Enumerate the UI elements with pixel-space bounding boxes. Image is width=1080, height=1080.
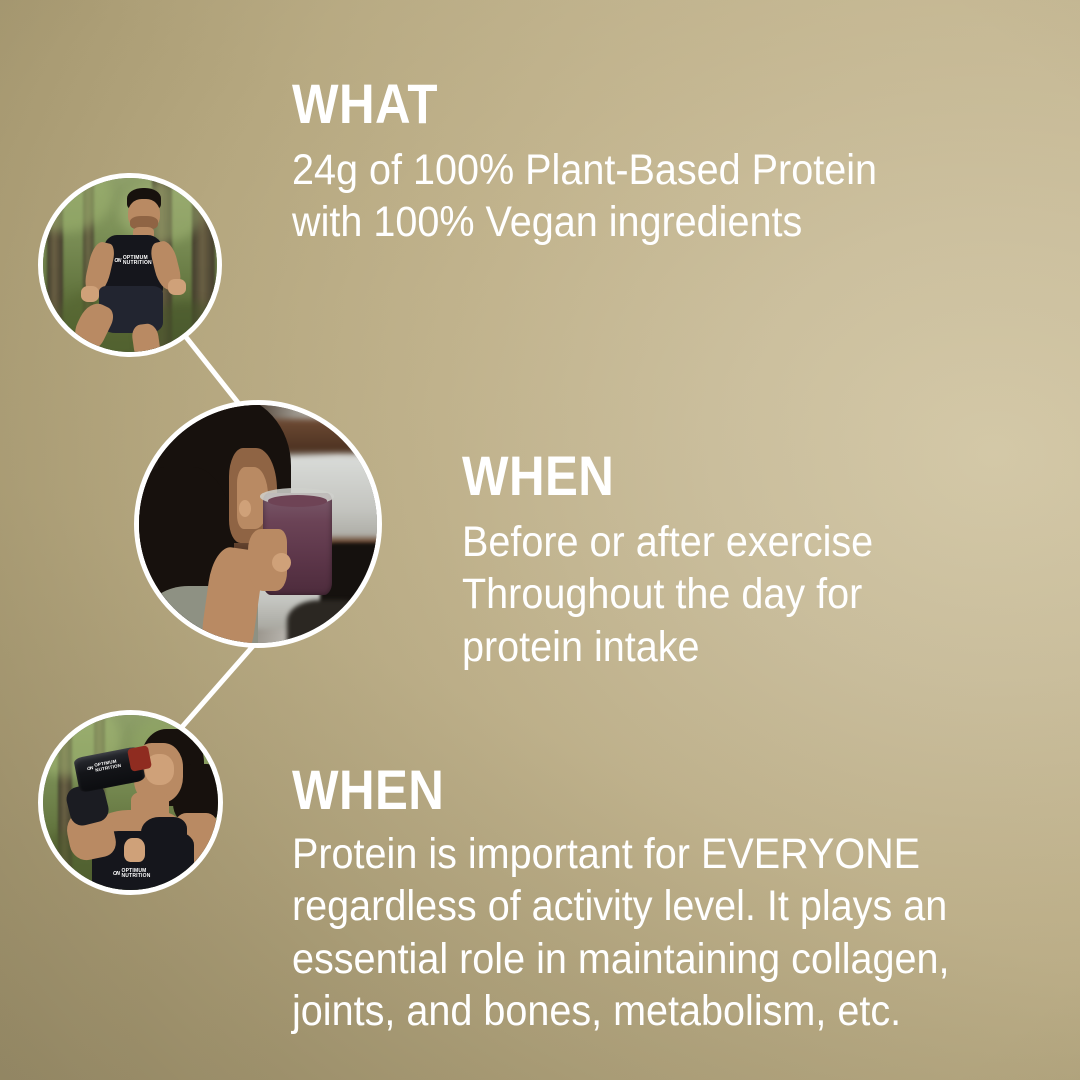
section-when-line-2: Throughout the day for bbox=[462, 568, 873, 620]
section-who-line-4: joints, and bones, metabolism, etc. bbox=[292, 985, 950, 1037]
section-who-line-1: Protein is important for EVERYONE bbox=[292, 828, 950, 880]
section-what-line-1: 24g of 100% Plant-Based Protein bbox=[292, 144, 877, 196]
section-when-heading: WHEN bbox=[462, 448, 855, 504]
photo-circle-runner: ON OPTIMUM NUTRITION bbox=[38, 173, 222, 357]
section-when-line-3: protein intake bbox=[462, 621, 873, 673]
brand-mark: ON bbox=[113, 872, 120, 877]
shaker-photo: ON OPTIMUM NUTRITION ON OPTIMUM NUTRITIO… bbox=[43, 715, 218, 890]
section-who-heading: WHEN bbox=[292, 762, 921, 818]
section-when-line-1: Before or after exercise bbox=[462, 516, 873, 568]
photo-circle-shaker: ON OPTIMUM NUTRITION ON OPTIMUM NUTRITIO… bbox=[38, 710, 223, 895]
brand-mark: ON bbox=[87, 767, 94, 773]
smoothie-photo bbox=[139, 405, 377, 643]
runner-brand-logo: ON OPTIMUM NUTRITION bbox=[114, 256, 152, 266]
section-who-line-2: regardless of activity level. It plays a… bbox=[292, 880, 950, 932]
section-what: WHAT 24g of 100% Plant-Based Protein wit… bbox=[292, 76, 928, 249]
counter-edge bbox=[287, 600, 368, 643]
photo-circle-smoothie bbox=[134, 400, 382, 648]
section-when-body: Before or after exercise Throughout the … bbox=[462, 516, 873, 673]
brand-mark: ON bbox=[114, 259, 121, 264]
section-when: WHEN Before or after exercise Throughout… bbox=[462, 448, 909, 673]
brand-line-2: NUTRITION bbox=[123, 261, 152, 266]
brand-line-2: NUTRITION bbox=[122, 874, 151, 879]
section-what-heading: WHAT bbox=[292, 76, 852, 132]
section-what-body: 24g of 100% Plant-Based Protein with 100… bbox=[292, 144, 877, 249]
section-who-body: Protein is important for EVERYONE regard… bbox=[292, 828, 950, 1038]
bottle-cap bbox=[127, 745, 152, 771]
infographic-canvas: ON OPTIMUM NUTRITION bbox=[0, 0, 1080, 1080]
runner-photo: ON OPTIMUM NUTRITION bbox=[43, 178, 217, 352]
section-who: WHEN Protein is important for EVERYONE r… bbox=[292, 762, 1007, 1038]
section-who-line-3: essential role in maintaining collagen, bbox=[292, 933, 950, 985]
bra-brand-logo: ON OPTIMUM NUTRITION bbox=[113, 869, 151, 879]
section-what-line-2: with 100% Vegan ingredients bbox=[292, 196, 877, 248]
